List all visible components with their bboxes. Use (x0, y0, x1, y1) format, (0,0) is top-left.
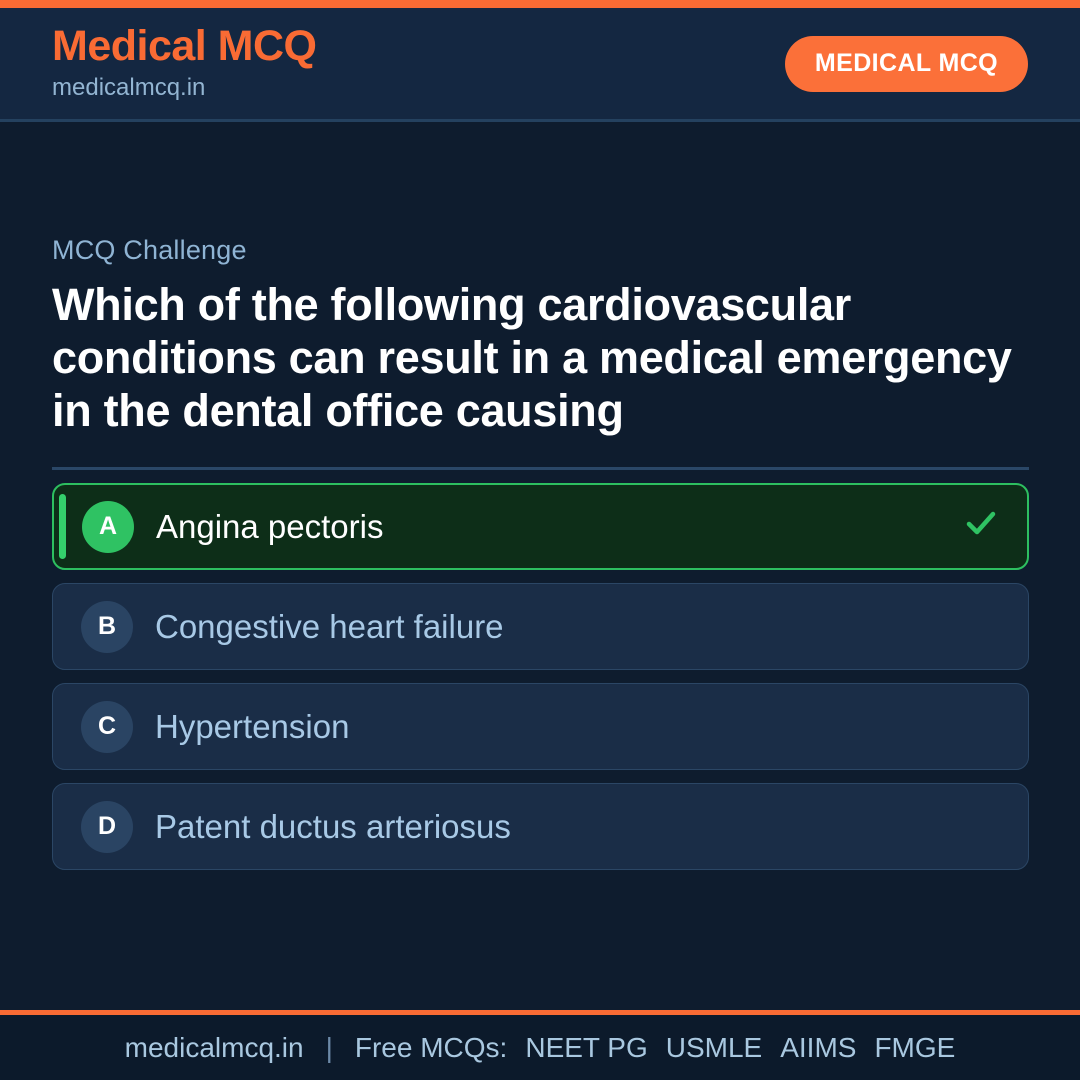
option-label: Patent ductus arteriosus (155, 809, 962, 845)
check-icon (961, 503, 1001, 550)
header-badge: MEDICAL MCQ (785, 36, 1028, 92)
option-letter-badge: B (81, 601, 133, 653)
brand-block: Medical MCQ medicalmcq.in (52, 24, 317, 103)
footer-separator: | (318, 1032, 341, 1064)
eyebrow-label: MCQ Challenge (52, 235, 1028, 266)
footer-exam-usmle: USMLE (662, 1032, 762, 1064)
footer-label: Free MCQs: (355, 1032, 507, 1064)
option-label: Angina pectoris (156, 509, 961, 545)
option-label: Hypertension (155, 709, 962, 745)
main-content: MCQ Challenge Which of the following car… (0, 122, 1080, 1010)
question-divider (52, 467, 1029, 470)
brand-subtitle: medicalmcq.in (52, 72, 317, 103)
page-header: Medical MCQ medicalmcq.in MEDICAL MCQ (0, 8, 1080, 122)
option-letter-badge: A (82, 501, 134, 553)
option-a[interactable]: A Angina pectoris (52, 483, 1029, 570)
footer-site: medicalmcq.in (125, 1032, 304, 1064)
option-d[interactable]: D Patent ductus arteriosus (52, 783, 1029, 870)
footer-exam-aiims: AIIMS (776, 1032, 856, 1064)
option-letter-badge: C (81, 701, 133, 753)
top-accent-strip (0, 0, 1080, 8)
option-b[interactable]: B Congestive heart failure (52, 583, 1029, 670)
options-list: A Angina pectoris B Congestive heart fai… (52, 483, 1028, 870)
option-label: Congestive heart failure (155, 609, 962, 645)
footer-text: medicalmcq.in | Free MCQs: NEET PG USMLE… (125, 1032, 956, 1064)
option-letter-badge: D (81, 801, 133, 853)
page-footer: medicalmcq.in | Free MCQs: NEET PG USMLE… (0, 1010, 1080, 1080)
correct-accent-bar (59, 494, 66, 559)
footer-exam-neet-pg: NEET PG (521, 1032, 647, 1064)
question-text: Which of the following cardiovascular co… (52, 278, 1028, 437)
footer-exam-fmge: FMGE (870, 1032, 955, 1064)
option-c[interactable]: C Hypertension (52, 683, 1029, 770)
brand-title: Medical MCQ (52, 24, 317, 69)
mcq-card: Medical MCQ medicalmcq.in MEDICAL MCQ MC… (0, 0, 1080, 1080)
